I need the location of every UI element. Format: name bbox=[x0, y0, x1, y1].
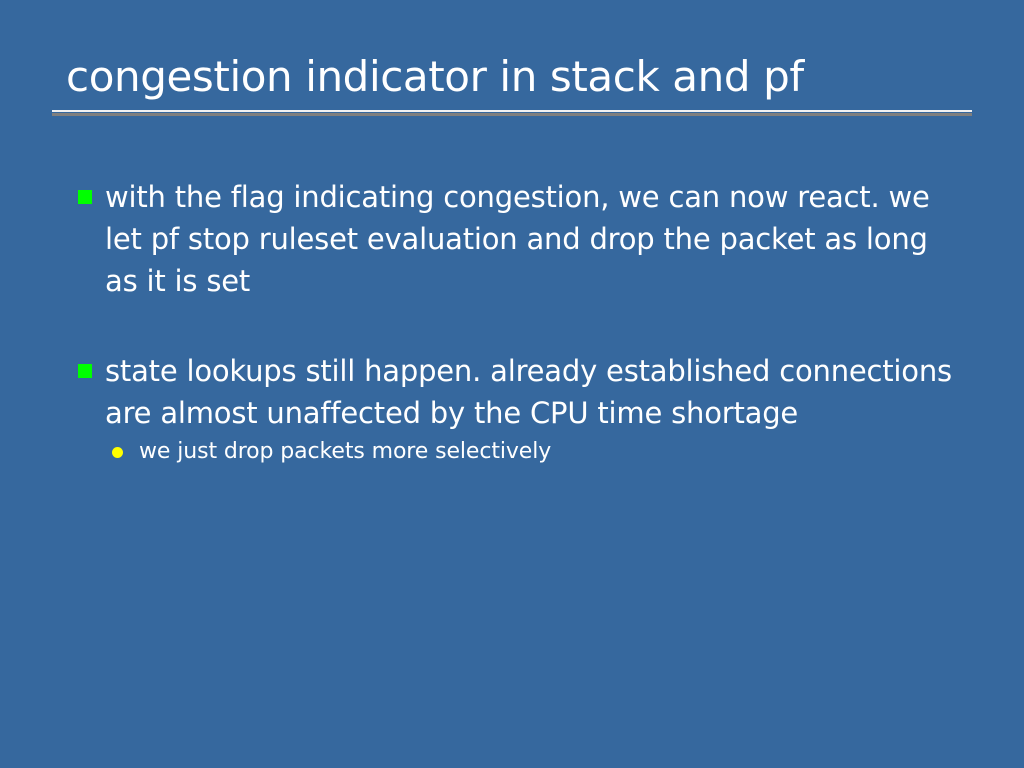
title-block: congestion indicator in stack and pf bbox=[52, 50, 972, 116]
list-item-sub: we just drop packets more selectively bbox=[112, 436, 958, 468]
green-square-bullet-icon bbox=[78, 364, 92, 378]
yellow-dot-bullet-icon bbox=[112, 447, 123, 458]
bullet-text: state lookups still happen. already esta… bbox=[105, 354, 952, 430]
paragraph-spacer bbox=[78, 302, 958, 350]
page-title: congestion indicator in stack and pf bbox=[52, 50, 972, 104]
list-item: state lookups still happen. already esta… bbox=[78, 350, 958, 434]
list-item: with the flag indicating congestion, we … bbox=[78, 176, 958, 302]
title-underline-rule bbox=[52, 110, 972, 116]
sub-bullet-text: we just drop packets more selectively bbox=[139, 439, 551, 464]
slide-canvas: congestion indicator in stack and pf wit… bbox=[0, 0, 1024, 768]
green-square-bullet-icon bbox=[78, 190, 92, 204]
bullet-text: with the flag indicating congestion, we … bbox=[105, 180, 930, 298]
body-content: with the flag indicating congestion, we … bbox=[78, 176, 958, 468]
